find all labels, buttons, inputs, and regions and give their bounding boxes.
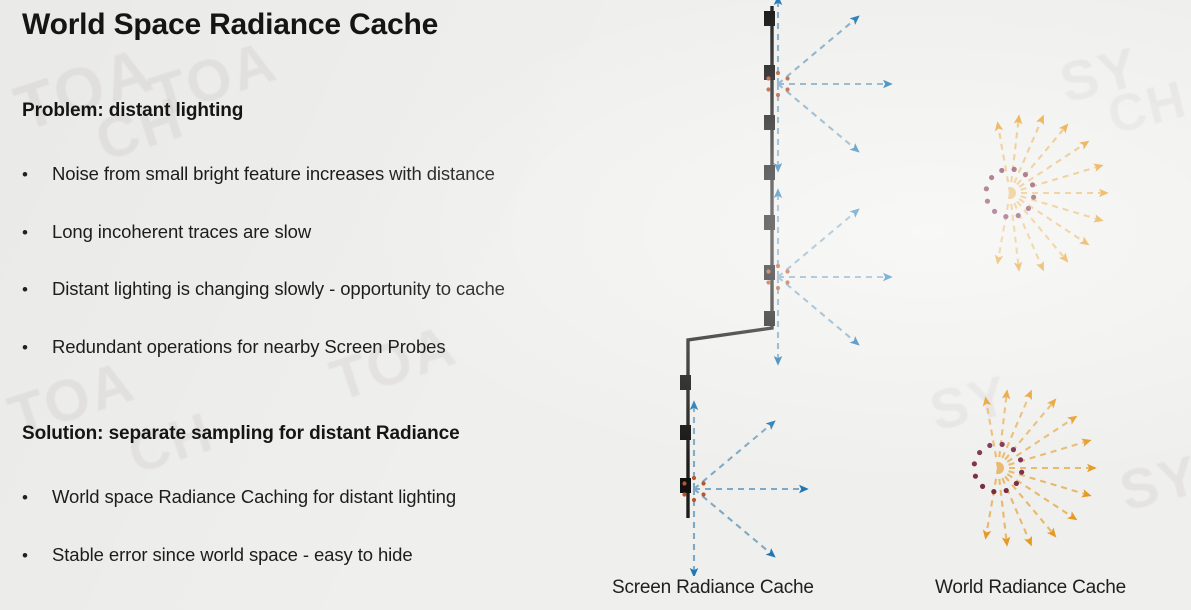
screen-cache-ray	[778, 277, 858, 344]
sample-dot	[1014, 481, 1019, 486]
screen-cache-ray	[778, 210, 858, 277]
screen-cache-ray	[694, 489, 774, 556]
list-item: •World space Radiance Caching for distan…	[22, 486, 456, 508]
wall-geometry	[688, 6, 772, 518]
sample-dot	[977, 450, 982, 455]
sample-dot	[989, 175, 994, 180]
sample-dot	[973, 474, 978, 479]
list-item-label: Stable error since world space - easy to…	[52, 544, 413, 565]
screen-probe-cluster	[766, 191, 890, 363]
list-item-label: Distant lighting is changing slowly - op…	[52, 278, 505, 299]
sample-dot	[776, 93, 780, 97]
text-column: World Space Radiance Cache Problem: dist…	[0, 0, 660, 610]
problem-heading: Problem: distant lighting	[22, 100, 243, 122]
sample-dot	[776, 264, 780, 268]
world-cache-ray	[1010, 166, 1101, 193]
bullet-marker: •	[22, 223, 52, 243]
radiance-cache-diagram	[600, 0, 1191, 576]
list-item-label: Noise from small bright feature increase…	[52, 163, 495, 184]
world-cache-ray	[998, 441, 1089, 468]
sample-dot	[1004, 488, 1009, 493]
world-cache-ray	[1010, 193, 1067, 261]
screen-probe-cluster	[766, 0, 890, 170]
caption-screen-radiance-cache: Screen Radiance Cache	[612, 577, 814, 599]
sample-dot	[785, 280, 789, 284]
sample-dot	[1018, 457, 1023, 462]
sample-dot	[776, 286, 780, 290]
list-item: •Stable error since world space - easy t…	[22, 544, 413, 566]
screen-probe-square	[764, 215, 775, 230]
sample-dot	[766, 280, 770, 284]
sample-dot	[1026, 206, 1031, 211]
solution-heading: Solution: separate sampling for distant …	[22, 423, 460, 445]
sample-dot	[1011, 447, 1016, 452]
sample-dot	[1000, 442, 1005, 447]
sample-dot	[1003, 214, 1008, 219]
sample-dot	[776, 71, 780, 75]
sample-dot	[987, 443, 992, 448]
list-item: •Noise from small bright feature increas…	[22, 163, 495, 185]
sample-dot	[1019, 470, 1024, 475]
sample-dot	[682, 481, 686, 485]
sample-dot	[1031, 195, 1036, 200]
sample-dot	[985, 199, 990, 204]
world-cache-ray	[1010, 193, 1101, 220]
bullet-marker: •	[22, 280, 52, 300]
wall-outline	[688, 6, 772, 518]
screen-cache-ray	[694, 422, 774, 489]
screen-probe-square	[764, 11, 775, 26]
screen-probe-square	[764, 165, 775, 180]
world-cache-cluster	[972, 392, 1094, 544]
screen-cache-ray	[778, 17, 858, 84]
screen-probe-square	[680, 425, 691, 440]
diagram-illustration: Screen Radiance Cache World Radiance Cac…	[600, 0, 1191, 610]
sample-dot	[1030, 182, 1035, 187]
sample-dot	[701, 492, 705, 496]
bullet-marker: •	[22, 546, 52, 566]
world-cache-ray	[998, 400, 1055, 468]
bullet-marker: •	[22, 488, 52, 508]
list-item-label: Redundant operations for nearby Screen P…	[52, 336, 446, 357]
screen-probe-cluster	[682, 403, 806, 575]
bullet-marker: •	[22, 338, 52, 358]
world-cache-ray	[986, 468, 998, 537]
sample-dot	[766, 76, 770, 80]
world-cache-cluster	[984, 117, 1106, 269]
sample-dot	[980, 484, 985, 489]
caption-world-radiance-cache: World Radiance Cache	[935, 577, 1126, 599]
list-item: •Distant lighting is changing slowly - o…	[22, 278, 505, 300]
world-cache-ray	[998, 468, 1055, 536]
sample-dot	[991, 489, 996, 494]
sample-dot	[701, 481, 705, 485]
sample-dot	[785, 269, 789, 273]
world-cache-ray	[986, 399, 998, 468]
list-item: •Redundant operations for nearby Screen …	[22, 336, 446, 358]
sample-dot	[785, 87, 789, 91]
screen-probe-square	[764, 311, 775, 326]
page-title: World Space Radiance Cache	[22, 8, 438, 42]
slide-root: TOACHTOASYCHTOACHTOASYSY World Space Rad…	[0, 0, 1191, 610]
list-item: •Long incoherent traces are slow	[22, 221, 311, 243]
sample-dot	[1023, 172, 1028, 177]
sample-dot	[999, 168, 1004, 173]
sample-dot	[692, 498, 696, 502]
sample-dot	[785, 76, 789, 80]
sample-dot	[766, 87, 770, 91]
world-cache-ray	[1010, 125, 1067, 193]
list-item-label: Long incoherent traces are slow	[52, 221, 311, 242]
sample-dot	[972, 461, 977, 466]
sample-dot	[984, 186, 989, 191]
world-cache-ray	[998, 468, 1089, 495]
sample-dot	[692, 476, 696, 480]
screen-probe-square	[764, 115, 775, 130]
screen-probe-square	[680, 478, 691, 493]
sample-dot	[1012, 167, 1017, 172]
sample-dot	[766, 269, 770, 273]
sample-dot	[682, 492, 686, 496]
world-cache-ray	[998, 193, 1010, 262]
list-item-label: World space Radiance Caching for distant…	[52, 486, 456, 507]
bullet-marker: •	[22, 165, 52, 185]
screen-cache-ray	[778, 84, 858, 151]
screen-probe-square	[680, 375, 691, 390]
sample-dot	[1016, 213, 1021, 218]
world-cache-ray	[998, 124, 1010, 193]
sample-dot	[992, 209, 997, 214]
